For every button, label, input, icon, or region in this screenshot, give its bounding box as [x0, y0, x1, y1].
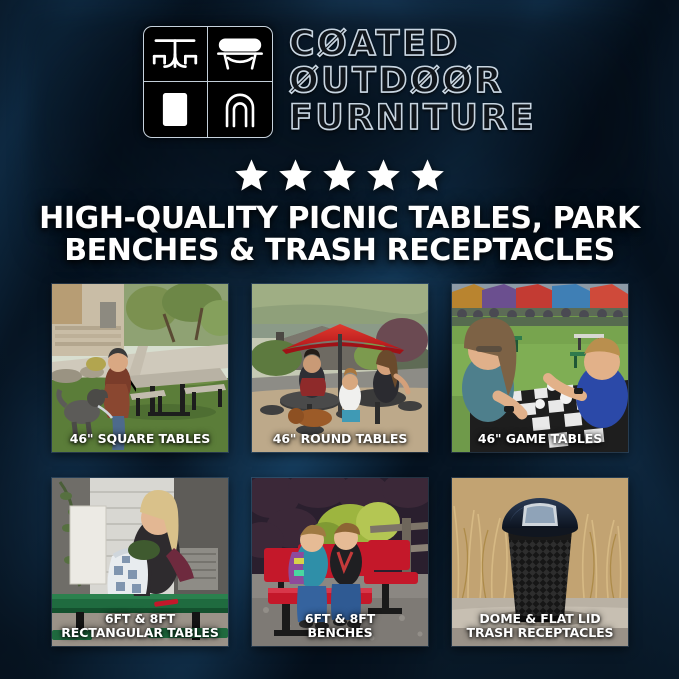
product-tile-game-tables[interactable]: 46" GAME TABLES — [452, 284, 628, 452]
picnic-table-icon — [144, 27, 208, 82]
caption-line: 6FT & 8FT — [256, 612, 424, 626]
product-tile-trash-receptacles[interactable]: DOME & FLAT LID TRASH RECEPTACLES — [452, 478, 628, 646]
star-icon — [277, 157, 314, 193]
park-bench-icon — [208, 27, 272, 82]
product-tile-benches[interactable]: 6FT & 8FT BENCHES — [252, 478, 428, 646]
caption-line: 46" GAME TABLES — [456, 432, 624, 446]
product-photo-round-tables — [252, 284, 428, 452]
product-caption: 6FT & 8FT RECTANGULAR TABLES — [56, 612, 224, 640]
product-tile-rectangular-tables[interactable]: 6FT & 8FT RECTANGULAR TABLES — [52, 478, 228, 646]
star-icon — [409, 157, 446, 193]
page-title: HIGH-QUALITY PICNIC TABLES, PARK BENCHES… — [30, 203, 649, 268]
product-photo-square-tables — [52, 284, 228, 452]
logo-icon-grid — [143, 26, 273, 138]
caption-line: TRASH RECEPTACLES — [456, 626, 624, 640]
wordmark-line-2: ØUTDØØR — [289, 63, 536, 99]
poster: CØATED ØUTDØØR FURNITURE HIGH-QUALITY PI… — [0, 0, 679, 679]
star-icon — [365, 157, 402, 193]
headline-line-2: BENCHES & TRASH RECEPTACLES — [30, 235, 649, 267]
trash-receptacle-icon — [144, 82, 208, 137]
product-caption: 46" GAME TABLES — [456, 432, 624, 446]
headline-line-1: HIGH-QUALITY PICNIC TABLES, PARK — [30, 203, 649, 235]
product-tile-square-tables[interactable]: 46" SQUARE TABLES — [52, 284, 228, 452]
product-caption: DOME & FLAT LID TRASH RECEPTACLES — [456, 612, 624, 640]
caption-line: BENCHES — [256, 626, 424, 640]
brand-logo: CØATED ØUTDØØR FURNITURE — [0, 26, 679, 138]
caption-line: DOME & FLAT LID — [456, 612, 624, 626]
wordmark-line-1: CØATED — [289, 26, 536, 62]
caption-line: 46" SQUARE TABLES — [56, 432, 224, 446]
bike-rack-icon — [208, 82, 272, 137]
product-tile-round-tables[interactable]: 46" ROUND TABLES — [252, 284, 428, 452]
product-caption: 6FT & 8FT BENCHES — [256, 612, 424, 640]
star-icon — [321, 157, 358, 193]
product-photo-game-tables — [452, 284, 628, 452]
wordmark-line-3: FURNITURE — [289, 100, 536, 136]
caption-line: 46" ROUND TABLES — [256, 432, 424, 446]
product-caption: 46" SQUARE TABLES — [56, 432, 224, 446]
star-rating — [0, 157, 679, 193]
caption-line: RECTANGULAR TABLES — [56, 626, 224, 640]
caption-line: 6FT & 8FT — [56, 612, 224, 626]
product-caption: 46" ROUND TABLES — [256, 432, 424, 446]
brand-wordmark: CØATED ØUTDØØR FURNITURE — [289, 26, 536, 138]
star-icon — [233, 157, 270, 193]
product-grid: 46" SQUARE TABLES — [52, 284, 628, 646]
